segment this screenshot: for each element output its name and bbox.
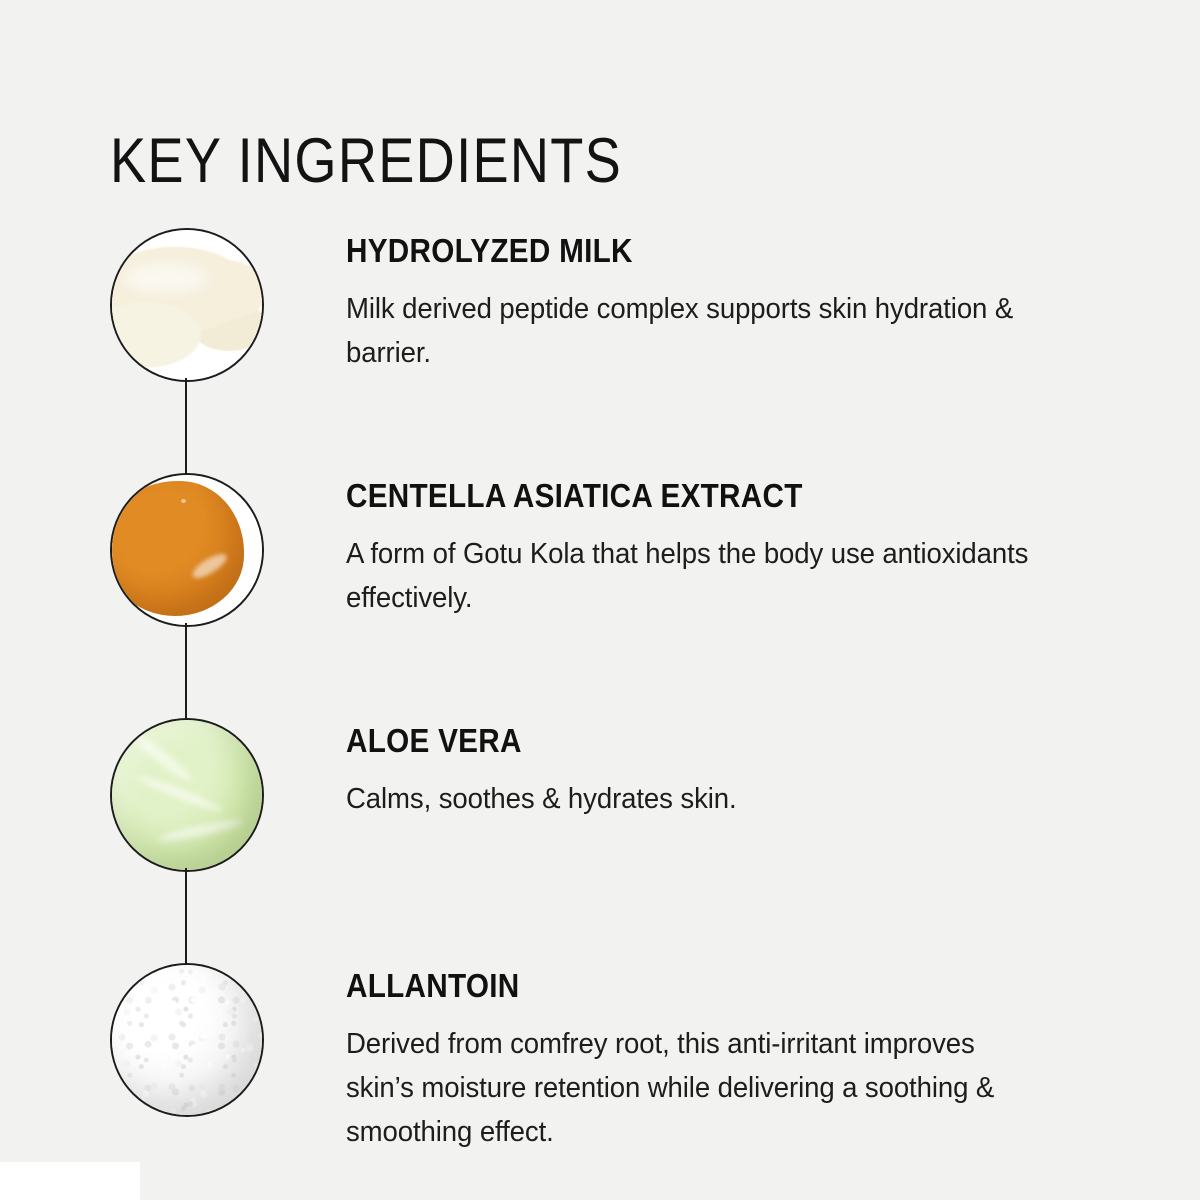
- ingredient-description: Milk derived peptide complex supports sk…: [346, 287, 1030, 375]
- aloe-shading: [112, 720, 262, 870]
- ingredient-description: Calms, soothes & hydrates skin.: [346, 777, 1030, 821]
- ingredient-copy: HYDROLYZED MILK Milk derived peptide com…: [346, 234, 1066, 375]
- ingredient-row: ALLANTOIN Derived from comfrey root, thi…: [110, 963, 1110, 1163]
- rail-connector-line: [185, 623, 187, 723]
- ingredient-row: HYDROLYZED MILK Milk derived peptide com…: [110, 228, 1110, 473]
- aloe-gel-swatch: [110, 718, 264, 872]
- bottom-edge-strip: [0, 1162, 140, 1200]
- rail-connector-line: [185, 378, 187, 478]
- centella-gel-swatch: [110, 473, 264, 627]
- ingredient-copy: ALLANTOIN Derived from comfrey root, thi…: [346, 969, 1066, 1154]
- infographic-page: KEY INGREDIENTS HYDROLYZED MILK Milk der…: [0, 0, 1200, 1200]
- centella-gel-droplet: [110, 481, 244, 616]
- ingredient-description: Derived from comfrey root, this anti-irr…: [346, 1022, 1030, 1154]
- ingredient-row: ALOE VERA Calms, soothes & hydrates skin…: [110, 718, 1110, 963]
- allantoin-shading: [112, 965, 262, 1115]
- allantoin-powder-swatch: [110, 963, 264, 1117]
- ingredient-list: HYDROLYZED MILK Milk derived peptide com…: [110, 228, 1110, 1163]
- ingredient-name: HYDROLYZED MILK: [346, 234, 994, 267]
- ingredient-description: A form of Gotu Kola that helps the body …: [346, 532, 1030, 620]
- ingredient-name: ALOE VERA: [346, 724, 994, 757]
- milk-highlight: [124, 263, 208, 293]
- rail-connector-line: [185, 868, 187, 968]
- ingredient-copy: CENTELLA ASIATICA EXTRACT A form of Gotu…: [346, 479, 1066, 620]
- centella-bubble: [181, 499, 186, 503]
- milk-droplet-fill: [112, 230, 262, 380]
- page-title: KEY INGREDIENTS: [110, 130, 622, 193]
- ingredient-name: ALLANTOIN: [346, 969, 994, 1002]
- ingredient-copy: ALOE VERA Calms, soothes & hydrates skin…: [346, 724, 1066, 821]
- ingredient-name: CENTELLA ASIATICA EXTRACT: [346, 479, 994, 512]
- ingredient-row: CENTELLA ASIATICA EXTRACT A form of Gotu…: [110, 473, 1110, 718]
- milk-droplet-swatch: [110, 228, 264, 382]
